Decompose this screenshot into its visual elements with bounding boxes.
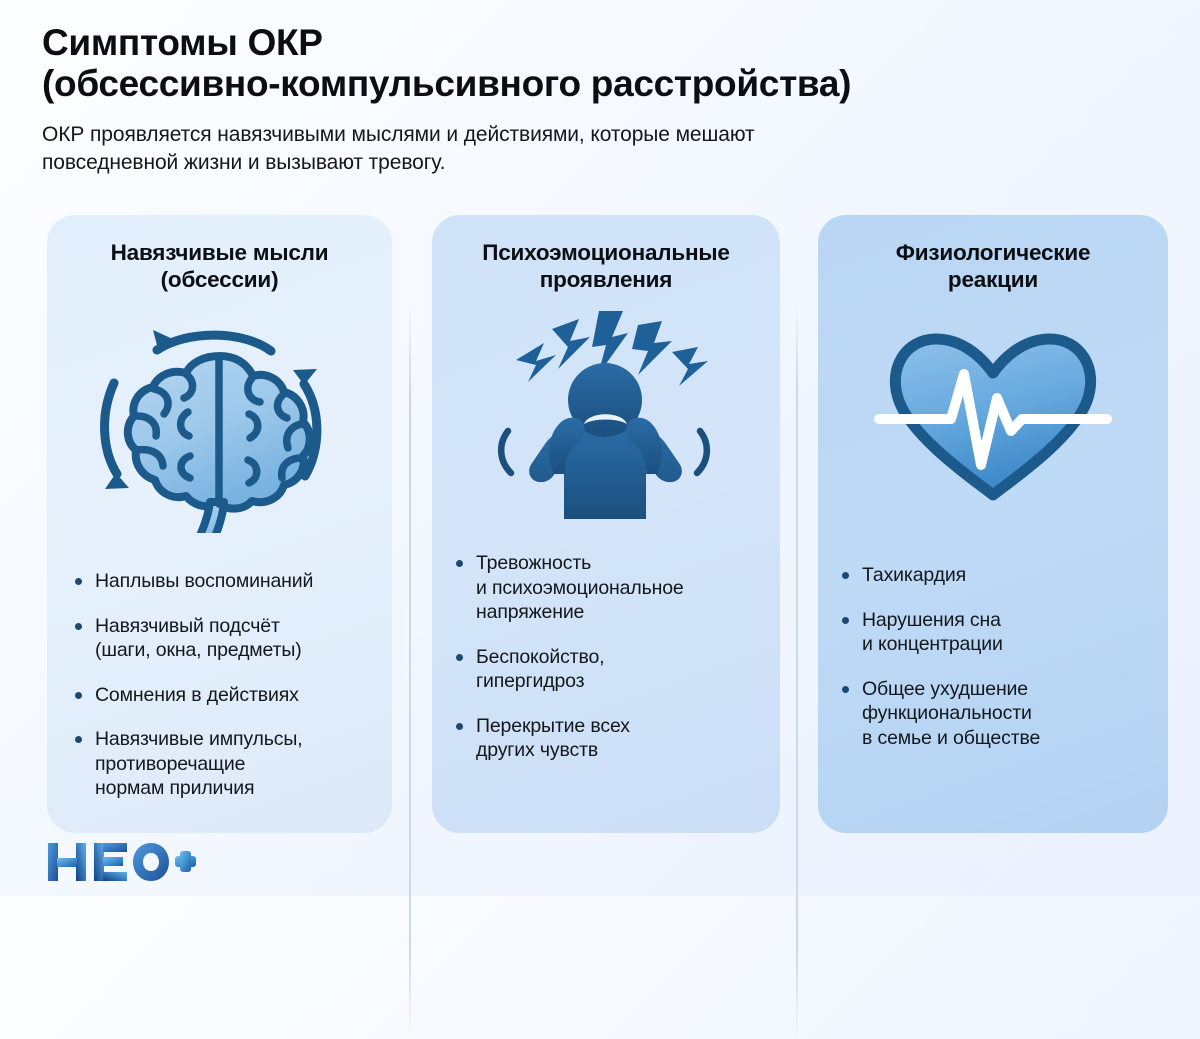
list-item: Общее ухудшение функциональности в семье… — [840, 677, 1154, 751]
header: Симптомы ОКР (обсессивно-компульсивного … — [42, 22, 1167, 177]
brain-cycle-icon — [47, 305, 392, 545]
list-item: Сомнения в действиях — [73, 683, 378, 708]
neo-plus-logo — [46, 842, 196, 882]
infographic-page: Симптомы ОКР (обсессивно-компульсивного … — [0, 0, 1200, 896]
card-title-psychoemotional: Психоэмоциональные проявления — [432, 239, 780, 293]
list-item: Навязчивые импульсы, противоречащие норм… — [73, 727, 378, 801]
symptom-cards: Навязчивые мысли (обсессии) — [0, 215, 1200, 833]
list-item: Беспокойство, гипергидроз — [454, 645, 766, 694]
list-item: Нарушения сна и концентрации — [840, 608, 1154, 657]
page-title: Симптомы ОКР (обсессивно-компульсивного … — [42, 22, 1167, 105]
bullet-list-obsessions: Наплывы воспоминаний Навязчивый подсчёт … — [47, 569, 392, 801]
card-divider-1 — [409, 303, 411, 1039]
card-divider-2 — [796, 303, 798, 1039]
heart-pulse-icon — [818, 301, 1168, 541]
page-subtitle: ОКР проявляется навязчивыми мыслями и де… — [42, 121, 1167, 177]
list-item: Тревожность и психоэмоциональное напряже… — [454, 551, 766, 625]
card-psychoemotional: Психоэмоциональные проявления — [432, 215, 780, 833]
list-item: Наплывы воспоминаний — [73, 569, 378, 594]
list-item: Навязчивый подсчёт (шаги, окна, предметы… — [73, 614, 378, 663]
stressed-person-icon — [432, 295, 780, 535]
card-obsessions: Навязчивые мысли (обсессии) — [47, 215, 392, 833]
card-title-physiological: Физиологические реакции — [818, 239, 1168, 293]
card-title-obsessions: Навязчивые мысли (обсессии) — [47, 239, 392, 293]
bullet-list-psychoemotional: Тревожность и психоэмоциональное напряже… — [432, 551, 780, 763]
bullet-list-physiological: Тахикардия Нарушения сна и концентрации … — [818, 563, 1168, 750]
list-item: Тахикардия — [840, 563, 1154, 588]
list-item: Перекрытие всех других чувств — [454, 714, 766, 763]
card-physiological: Физиологические реакции Тах — [818, 215, 1168, 833]
